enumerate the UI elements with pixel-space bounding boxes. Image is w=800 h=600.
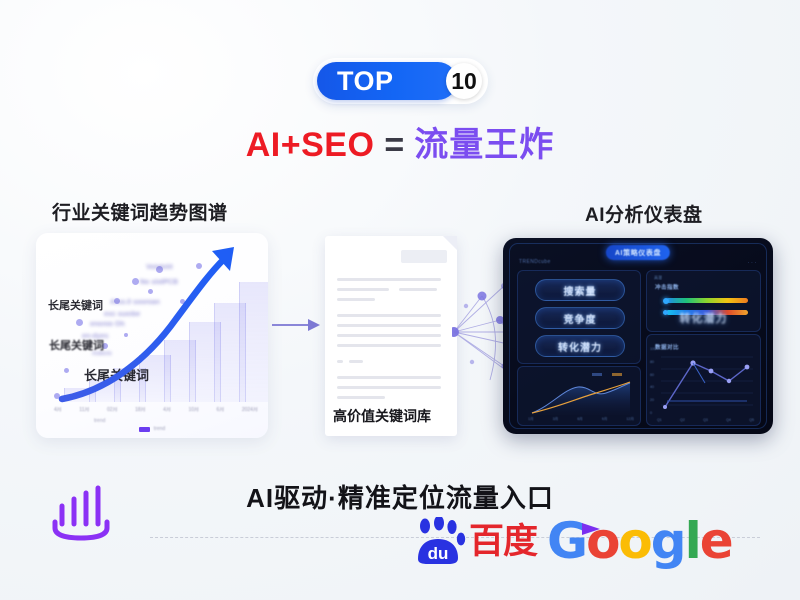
axis-tick: 11月 [79, 406, 89, 416]
dashboard-menu-icon[interactable]: ... [748, 259, 758, 265]
headline-equals: = [384, 126, 404, 164]
meter-caption: 转化潜力 [647, 310, 760, 326]
axis-tick: 18月 [135, 406, 146, 416]
headline-ai-seo: AI+SEO [246, 126, 375, 164]
google-letter: e [700, 516, 732, 566]
google-letter: g [651, 516, 685, 566]
impact-meter-knob[interactable] [663, 298, 669, 304]
trend-chart: Volabilit No slidPCB Also.0 soonian exc … [36, 233, 268, 438]
bar-chart-icon [45, 482, 117, 544]
metric-button-label: 搜索量 [564, 283, 597, 298]
doc-text-line [337, 386, 441, 389]
x-tick: Q2 [680, 418, 685, 422]
metric-button-search-volume[interactable]: 搜索量 [535, 279, 625, 301]
doc-text-line [337, 278, 441, 281]
doc-text-line [337, 298, 375, 301]
search-engine-logos: du 百度 G o o g l e [412, 516, 732, 566]
google-letter: l [685, 516, 700, 566]
metric-buttons-panel: 搜索量 竞争度 转化潜力 [517, 270, 641, 364]
comparison-chart-panel: 数据对比 100 80 60 40 20 0 [646, 334, 761, 426]
footer-claim: AI驱动·精准定位流量入口 [0, 478, 800, 515]
trend-legend: trend [36, 426, 268, 432]
metric-button-conversion[interactable]: 转化潜力 [535, 335, 625, 357]
baidu-logo-text: 百度 [469, 524, 537, 559]
axis-tick: 10月 [188, 406, 199, 416]
axis-tick: 4月 [54, 406, 62, 416]
meter-heading: 冲击指数 [655, 283, 679, 291]
top-rank-badge: TOP 10 [313, 58, 488, 104]
document-title: 高价值关键词库 [333, 406, 453, 426]
x-tick: 1月 [528, 417, 534, 422]
google-logo: G o o g l e [547, 516, 732, 566]
meter-subheading: 高潜 [654, 275, 662, 281]
doc-text-line [337, 396, 385, 399]
axis-tick: 6月 [217, 406, 225, 416]
x-tick: 3月 [553, 417, 559, 422]
main-headline: AI+SEO=流量王炸 [0, 128, 800, 162]
trend-subnote: trend [94, 418, 105, 424]
flow-arrow-icon [272, 318, 320, 332]
headline-result: 流量王炸 [414, 126, 554, 164]
dashboard-brand: TRENDcube [519, 259, 551, 265]
top-badge-pill: TOP [317, 62, 457, 100]
area-chart-x-axis: 1月 3月 6月 9月 12月 [528, 417, 634, 422]
doc-text-line [337, 344, 441, 347]
metric-button-label: 转化潜力 [558, 339, 602, 354]
x-tick: Q1 [657, 418, 662, 422]
trend-area-chart-panel: 1月 3月 6月 9月 12月 [517, 366, 641, 426]
legend-swatch [139, 427, 150, 432]
metric-button-competition[interactable]: 竞争度 [535, 307, 625, 329]
doc-bullet [337, 360, 343, 363]
metric-button-label: 竞争度 [564, 311, 597, 326]
right-section-title: AI分析仪表盘 [585, 200, 703, 227]
axis-tick: 4月 [163, 406, 171, 416]
left-section-title: 行业关键词趋势图谱 [52, 198, 228, 225]
comparison-x-axis: Q1 Q2 Q3 Q4 Q5 [657, 418, 754, 422]
top-badge-number-circle: 10 [446, 63, 482, 99]
poster-canvas: TOP 10 AI+SEO=流量王炸 行业关键词趋势图谱 AI分析仪表盘 [0, 0, 800, 600]
top-badge-number: 10 [451, 70, 477, 93]
ai-dashboard-panel: AI策略仪表盘 TRENDcube ... 搜索量 竞争度 转化潜力 高潜 冲击… [503, 238, 773, 434]
baidu-paw-icon: du [412, 517, 466, 565]
trend-x-axis: 4月 11月 02月 18月 4月 10月 6月 2024月 [54, 406, 258, 416]
x-tick: Q4 [726, 418, 731, 422]
doc-text-line [349, 360, 363, 363]
doc-header-block [401, 250, 447, 263]
impact-meter-panel: 高潜 冲击指数 转化潜力 [646, 270, 761, 332]
doc-text-line [399, 288, 437, 291]
doc-text-line [337, 288, 389, 291]
doc-text-line [337, 324, 441, 327]
baidu-mark-text: du [428, 544, 449, 563]
axis-tick: 2024月 [242, 406, 258, 416]
doc-text-line [337, 334, 441, 337]
comparison-line-chart [647, 335, 760, 425]
x-tick: 12月 [626, 417, 634, 422]
top-badge-label: TOP [337, 68, 394, 95]
x-tick: 6月 [577, 417, 583, 422]
doc-text-line [337, 314, 441, 317]
legend-label: trend [154, 426, 165, 432]
axis-tick: 02月 [107, 406, 118, 416]
x-tick: Q3 [703, 418, 708, 422]
keyword-library-document: 高价值关键词库 [325, 236, 457, 436]
doc-text-line [337, 376, 441, 379]
x-tick: 9月 [602, 417, 608, 422]
impact-gradient-bar [666, 298, 748, 303]
dashboard-title-badge: AI策略仪表盘 [606, 245, 670, 260]
x-tick: Q5 [749, 418, 754, 422]
keyword-trend-card: Volabilit No slidPCB Also.0 soonian exc … [36, 233, 268, 438]
google-letter: o [618, 516, 650, 566]
baidu-logo: du 百度 [412, 517, 537, 565]
purple-pointer-icon [580, 521, 602, 537]
